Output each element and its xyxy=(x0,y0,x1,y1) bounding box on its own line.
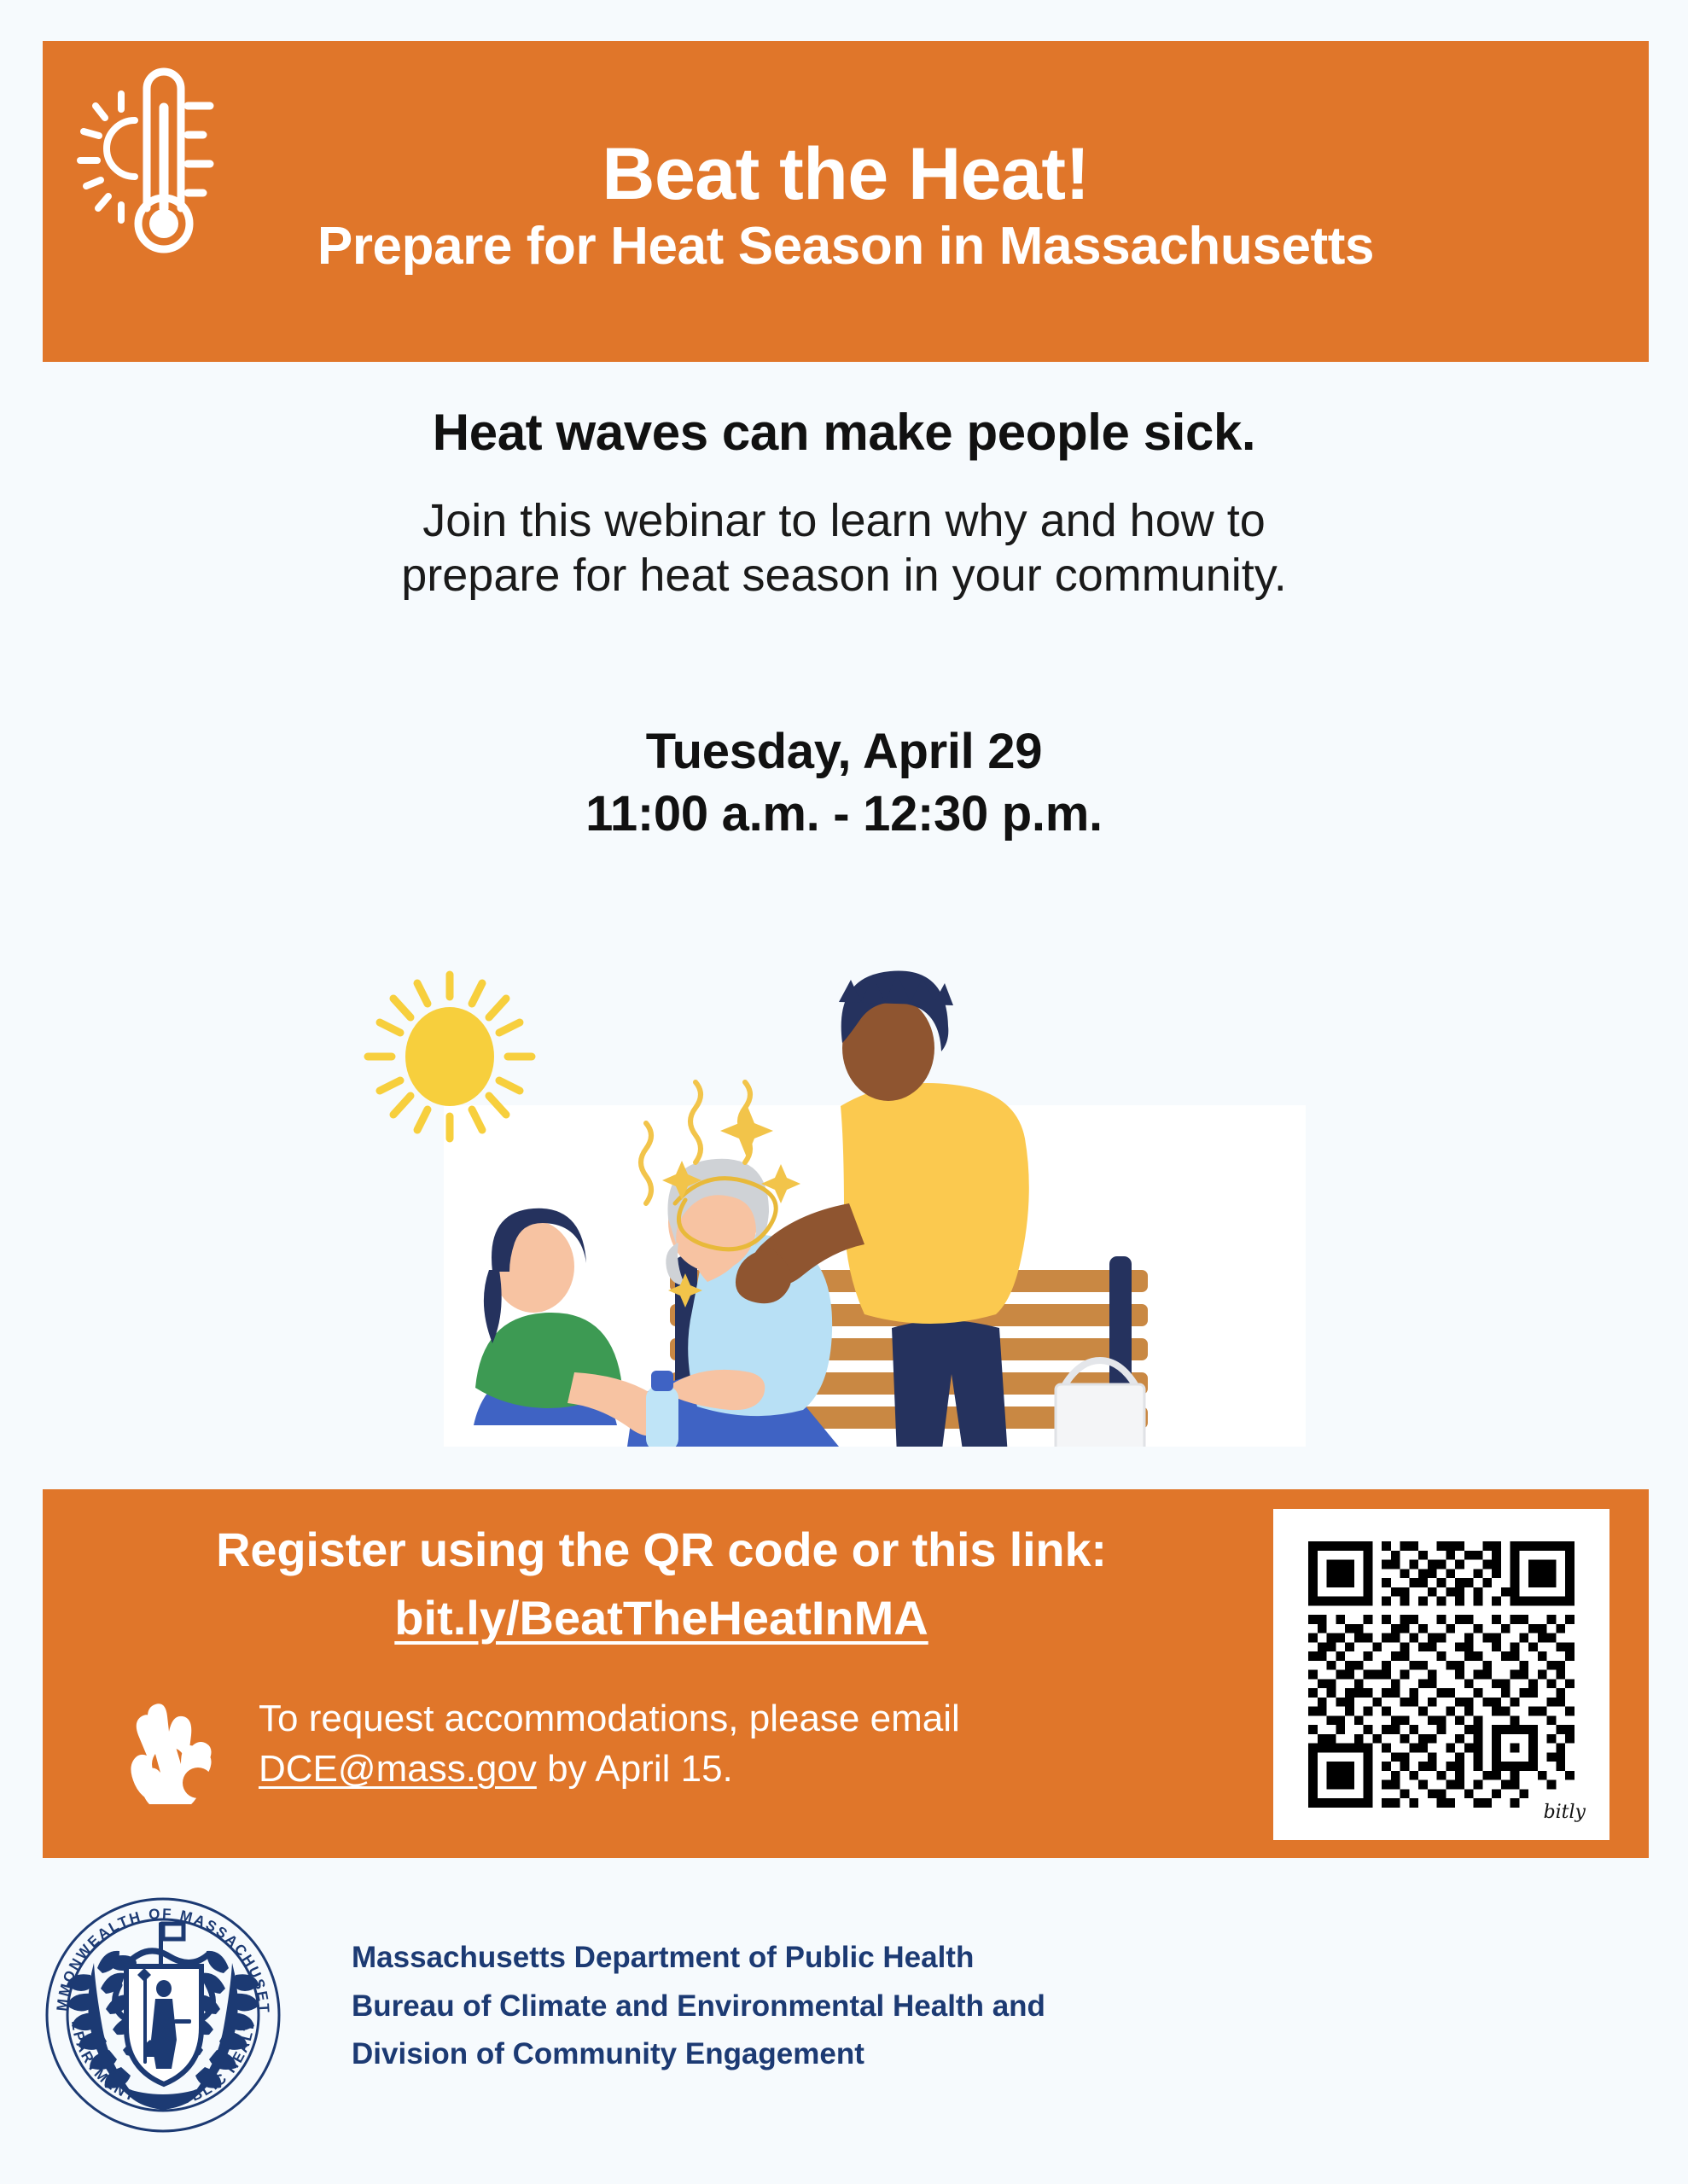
qr-code[interactable]: bitly xyxy=(1273,1509,1609,1840)
accommodations-email-link[interactable]: DCE@mass.gov xyxy=(259,1748,537,1790)
accommodations-row: To request accommodations, please email … xyxy=(119,1694,1254,1804)
headline: Heat waves can make people sick. xyxy=(0,403,1688,462)
lede-paragraph: Join this webinar to learn why and how t… xyxy=(0,494,1688,603)
header-banner: Beat the Heat! Prepare for Heat Season i… xyxy=(43,41,1649,362)
register-heading: Register using the QR code or this link: xyxy=(43,1522,1280,1577)
event-datetime-block: Tuesday, April 29 11:00 a.m. - 12:30 p.m… xyxy=(0,721,1688,845)
registration-link[interactable]: bit.ly/BeatTheHeatInMA xyxy=(394,1591,928,1645)
intro-block: Heat waves can make people sick. Join th… xyxy=(0,403,1688,603)
sun-icon xyxy=(368,975,532,1139)
footer-line-1: Massachusetts Department of Public Healt… xyxy=(352,1934,1045,1983)
lede-line-1: Join this webinar to learn why and how t… xyxy=(0,494,1688,549)
header-text-group: Beat the Heat! Prepare for Heat Season i… xyxy=(43,41,1649,362)
footer-line-2: Bureau of Climate and Environmental Heal… xyxy=(352,1983,1045,2031)
qr-brand-label: bitly xyxy=(1544,1802,1586,1823)
heat-illness-illustration xyxy=(346,947,1306,1447)
sign-language-interpreter-icon xyxy=(119,1698,235,1804)
accommodations-deadline: by April 15. xyxy=(537,1748,733,1790)
illustration-svg xyxy=(346,947,1306,1447)
register-link-row: bit.ly/BeatTheHeatInMA xyxy=(43,1590,1280,1645)
mass-dph-seal: COMMONWEALTH OF MASSACHUSETTS DEPARTMENT… xyxy=(41,1893,285,2137)
footer-department-text: Massachusetts Department of Public Healt… xyxy=(352,1934,1045,2079)
page-subtitle: Prepare for Heat Season in Massachusetts xyxy=(317,218,1374,274)
event-date: Tuesday, April 29 xyxy=(0,721,1688,783)
accommodations-line-1: To request accommodations, please email xyxy=(259,1698,960,1739)
footer-line-3: Division of Community Engagement xyxy=(352,2030,1045,2079)
page-title: Beat the Heat! xyxy=(602,137,1089,213)
footer: COMMONWEALTH OF MASSACHUSETTS DEPARTMENT… xyxy=(41,1893,1321,2137)
qr-code-matrix xyxy=(1304,1541,1579,1808)
lede-line-2: prepare for heat season in your communit… xyxy=(0,549,1688,603)
event-time: 11:00 a.m. - 12:30 p.m. xyxy=(0,783,1688,846)
kneeling-helper-woman xyxy=(474,1208,678,1447)
accommodations-text: To request accommodations, please email … xyxy=(259,1694,960,1795)
